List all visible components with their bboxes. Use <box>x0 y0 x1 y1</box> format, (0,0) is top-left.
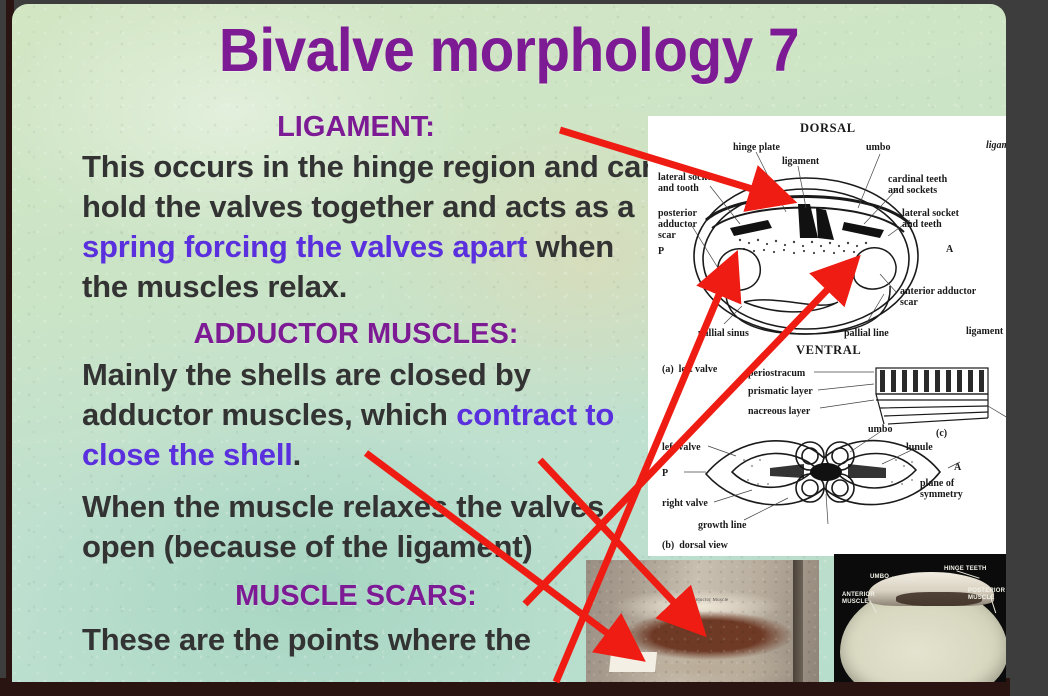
photo-shell-interior-white: UMBO HINGE TEETH ANTERIOR MUSCLE POSTERI… <box>834 554 1006 682</box>
slide-body-column: LIGAMENT: This occurs in the hinge regio… <box>82 110 660 668</box>
paragraph-adductor: Mainly the shells are closed by adductor… <box>82 355 660 475</box>
diagram-label: left valve <box>662 442 701 453</box>
diagram-label: periostracum <box>748 368 805 379</box>
photo-white-label-umbo: UMBO <box>870 574 889 581</box>
diagram-label: prismatic layer <box>748 386 813 397</box>
photo-white-label-anterior: ANTERIOR MUSCLE <box>842 592 875 606</box>
paragraph-muscle-scars: These are the points where the <box>82 620 660 660</box>
paragraph-relax: When the muscle relaxes the valves open … <box>82 487 660 567</box>
page-title: Bivalve morphology 7 <box>47 20 971 81</box>
diagram-label: right valve <box>662 498 708 509</box>
diagram-label: posterior adductor scar <box>658 208 697 241</box>
diagram-label: ligament <box>782 156 819 167</box>
diagram-label: cardinal teeth and sockets <box>888 174 947 196</box>
photo-white-label-hinge: HINGE TEETH <box>944 566 987 573</box>
diagram-label: umbo <box>866 142 890 153</box>
heading-adductor-muscles: ADDUCTOR MUSCLES: <box>82 317 660 352</box>
diagram-label: hinge plate <box>733 142 780 153</box>
bivalve-diagram-figure: DORSALhinge plateligamentumbolateral soc… <box>648 116 1006 556</box>
presentation-slide: Bivalve morphology 7 LIGAMENT: This occu… <box>12 4 1006 682</box>
diagram-label: plane of symmetry <box>920 478 963 500</box>
diagram-label: DORSAL <box>800 122 856 136</box>
diagram-label: lunule <box>906 442 933 453</box>
photo-brown-white-patch <box>609 652 657 672</box>
diagram-label: umbo <box>868 424 892 435</box>
diagram-label: VENTRAL <box>796 344 861 358</box>
paragraph-ligament: This occurs in the hinge region and can … <box>82 147 660 307</box>
diagram-label: anterior adductor scar <box>900 286 976 308</box>
paragraph-ligament-text-1: This occurs in the hinge region and can … <box>82 149 660 224</box>
photo-white-label-posterior: POSTERIOR MUSCLE <box>968 588 1005 602</box>
diagram-label: growth line <box>698 520 746 531</box>
photo-brown-caption: Anterior adductor Muscle <box>672 598 728 603</box>
diagram-label: (b) dorsal view <box>662 540 728 551</box>
photo-shell-interior-brown: Anterior adductor Muscle <box>586 560 819 682</box>
diagram-label: pallial line <box>844 328 889 339</box>
diagram-label: P <box>658 246 664 257</box>
screenshot-viewport: Bivalve morphology 7 LIGAMENT: This occu… <box>0 0 1048 696</box>
diagram-label: lateral socket and tooth <box>658 172 715 194</box>
diagram-label: (a) left valve <box>662 364 717 375</box>
diagram-label: P <box>662 468 668 479</box>
heading-muscle-scars: MUSCLE SCARS: <box>82 579 660 614</box>
paragraph-adductor-text-2: . <box>293 437 301 472</box>
diagram-label: lateral socket and teeth <box>902 208 959 230</box>
diagram-label: A <box>946 244 953 255</box>
paragraph-ligament-highlight: spring forcing the valves apart <box>82 229 527 264</box>
heading-ligament: LIGAMENT: <box>82 110 660 145</box>
diagram-label: A <box>954 462 961 473</box>
diagram-label: ligament <box>986 140 1006 151</box>
diagram-label: nacreous layer <box>748 406 810 417</box>
diagram-label: ligament <box>966 326 1003 337</box>
photo-brown-background-post <box>793 560 803 682</box>
diagram-label: (c) <box>936 428 947 439</box>
diagram-label: pallial sinus <box>698 328 749 339</box>
